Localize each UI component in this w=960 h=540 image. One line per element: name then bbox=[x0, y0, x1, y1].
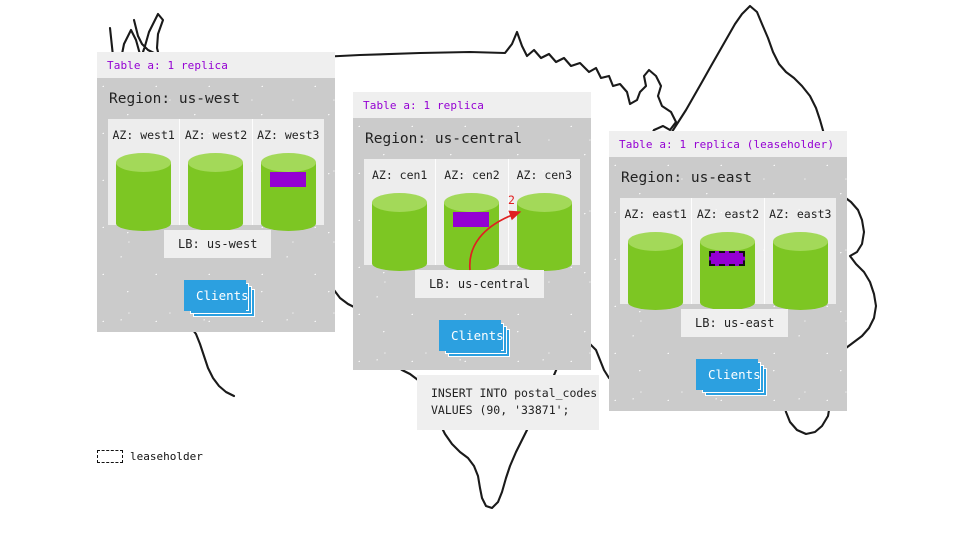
clients-label-us-central[interactable]: Clients bbox=[439, 320, 501, 351]
cylinder-top bbox=[261, 153, 316, 172]
load-balancer-us-west[interactable]: LB: us-west bbox=[164, 230, 271, 258]
az-cell-east2[interactable]: AZ: east2 bbox=[691, 198, 763, 304]
node-cylinder-cen3[interactable] bbox=[517, 193, 572, 271]
clients-stack-us-central[interactable]: Clients bbox=[439, 320, 505, 351]
az-label-cen2: AZ: cen2 bbox=[436, 168, 507, 182]
sql-statement-box: INSERT INTO postal_codes VALUES (90, '33… bbox=[417, 375, 599, 430]
region-title-us-west: Region: us-west bbox=[97, 78, 335, 119]
cylinder-body bbox=[517, 202, 572, 271]
az-label-west1: AZ: west1 bbox=[108, 128, 179, 142]
cylinder-top bbox=[517, 193, 572, 212]
az-row-us-east: AZ: east1 AZ: east2 AZ: east3 bbox=[620, 198, 836, 304]
node-cylinder-east2[interactable] bbox=[700, 232, 755, 310]
legend: leaseholder bbox=[97, 450, 203, 463]
clients-stack-us-west[interactable]: Clients bbox=[184, 280, 250, 311]
cylinder-top bbox=[116, 153, 171, 172]
cylinder-top bbox=[372, 193, 427, 212]
az-label-west2: AZ: west2 bbox=[180, 128, 251, 142]
az-label-east3: AZ: east3 bbox=[765, 207, 836, 221]
clients-label-us-west[interactable]: Clients bbox=[184, 280, 246, 311]
region-panel-us-east: Table a: 1 replica (leaseholder) Region:… bbox=[609, 131, 847, 411]
node-cylinder-east3[interactable] bbox=[773, 232, 828, 310]
az-cell-cen1[interactable]: AZ: cen1 bbox=[364, 159, 435, 265]
node-cylinder-west2[interactable] bbox=[188, 153, 243, 231]
az-cell-east1[interactable]: AZ: east1 bbox=[620, 198, 691, 304]
cylinder-body bbox=[116, 162, 171, 231]
dashed-rect-icon bbox=[97, 450, 123, 463]
load-balancer-us-east[interactable]: LB: us-east bbox=[681, 309, 788, 337]
region-panel-us-west: Table a: 1 replica Region: us-west AZ: w… bbox=[97, 52, 335, 332]
cylinder-top bbox=[773, 232, 828, 251]
az-cell-west2[interactable]: AZ: west2 bbox=[179, 119, 251, 225]
arrow-step-label: 2 bbox=[508, 193, 515, 207]
cylinder-top bbox=[628, 232, 683, 251]
diagram-canvas: Table a: 1 replica Region: us-west AZ: w… bbox=[0, 0, 960, 540]
clients-stack-us-east[interactable]: Clients bbox=[696, 359, 762, 390]
az-cell-east3[interactable]: AZ: east3 bbox=[764, 198, 836, 304]
node-cylinder-west1[interactable] bbox=[116, 153, 171, 231]
cylinder-body bbox=[188, 162, 243, 231]
az-row-us-west: AZ: west1 AZ: west2 AZ: west3 bbox=[108, 119, 324, 225]
load-balancer-us-central[interactable]: LB: us-central bbox=[415, 270, 544, 298]
cylinder-body bbox=[628, 241, 683, 310]
az-cell-cen3[interactable]: AZ: cen3 bbox=[508, 159, 580, 265]
range-replica-leaseholder-east2[interactable] bbox=[709, 251, 745, 266]
az-label-east2: AZ: east2 bbox=[692, 207, 763, 221]
region-header-us-west: Table a: 1 replica bbox=[97, 52, 335, 78]
az-label-east1: AZ: east1 bbox=[620, 207, 691, 221]
range-replica-west3[interactable] bbox=[270, 172, 306, 187]
region-panel-us-central: Table a: 1 replica Region: us-central AZ… bbox=[353, 92, 591, 370]
range-replica-cen2[interactable] bbox=[453, 212, 489, 227]
clients-label-us-east[interactable]: Clients bbox=[696, 359, 758, 390]
az-cell-cen2[interactable]: AZ: cen2 bbox=[435, 159, 507, 265]
region-header-us-east: Table a: 1 replica (leaseholder) bbox=[609, 131, 847, 157]
node-cylinder-cen1[interactable] bbox=[372, 193, 427, 271]
az-row-us-central: AZ: cen1 AZ: cen2 AZ: cen3 bbox=[364, 159, 580, 265]
region-title-us-east: Region: us-east bbox=[609, 157, 847, 198]
az-cell-west3[interactable]: AZ: west3 bbox=[252, 119, 324, 225]
cylinder-body bbox=[773, 241, 828, 310]
region-title-us-central: Region: us-central bbox=[353, 118, 591, 159]
az-label-cen3: AZ: cen3 bbox=[509, 168, 580, 182]
az-cell-west1[interactable]: AZ: west1 bbox=[108, 119, 179, 225]
az-label-west3: AZ: west3 bbox=[253, 128, 324, 142]
node-cylinder-east1[interactable] bbox=[628, 232, 683, 310]
region-header-us-central: Table a: 1 replica bbox=[353, 92, 591, 118]
node-cylinder-cen2[interactable] bbox=[444, 193, 499, 271]
cylinder-body bbox=[372, 202, 427, 271]
legend-label: leaseholder bbox=[130, 450, 203, 463]
node-cylinder-west3[interactable] bbox=[261, 153, 316, 231]
az-label-cen1: AZ: cen1 bbox=[364, 168, 435, 182]
